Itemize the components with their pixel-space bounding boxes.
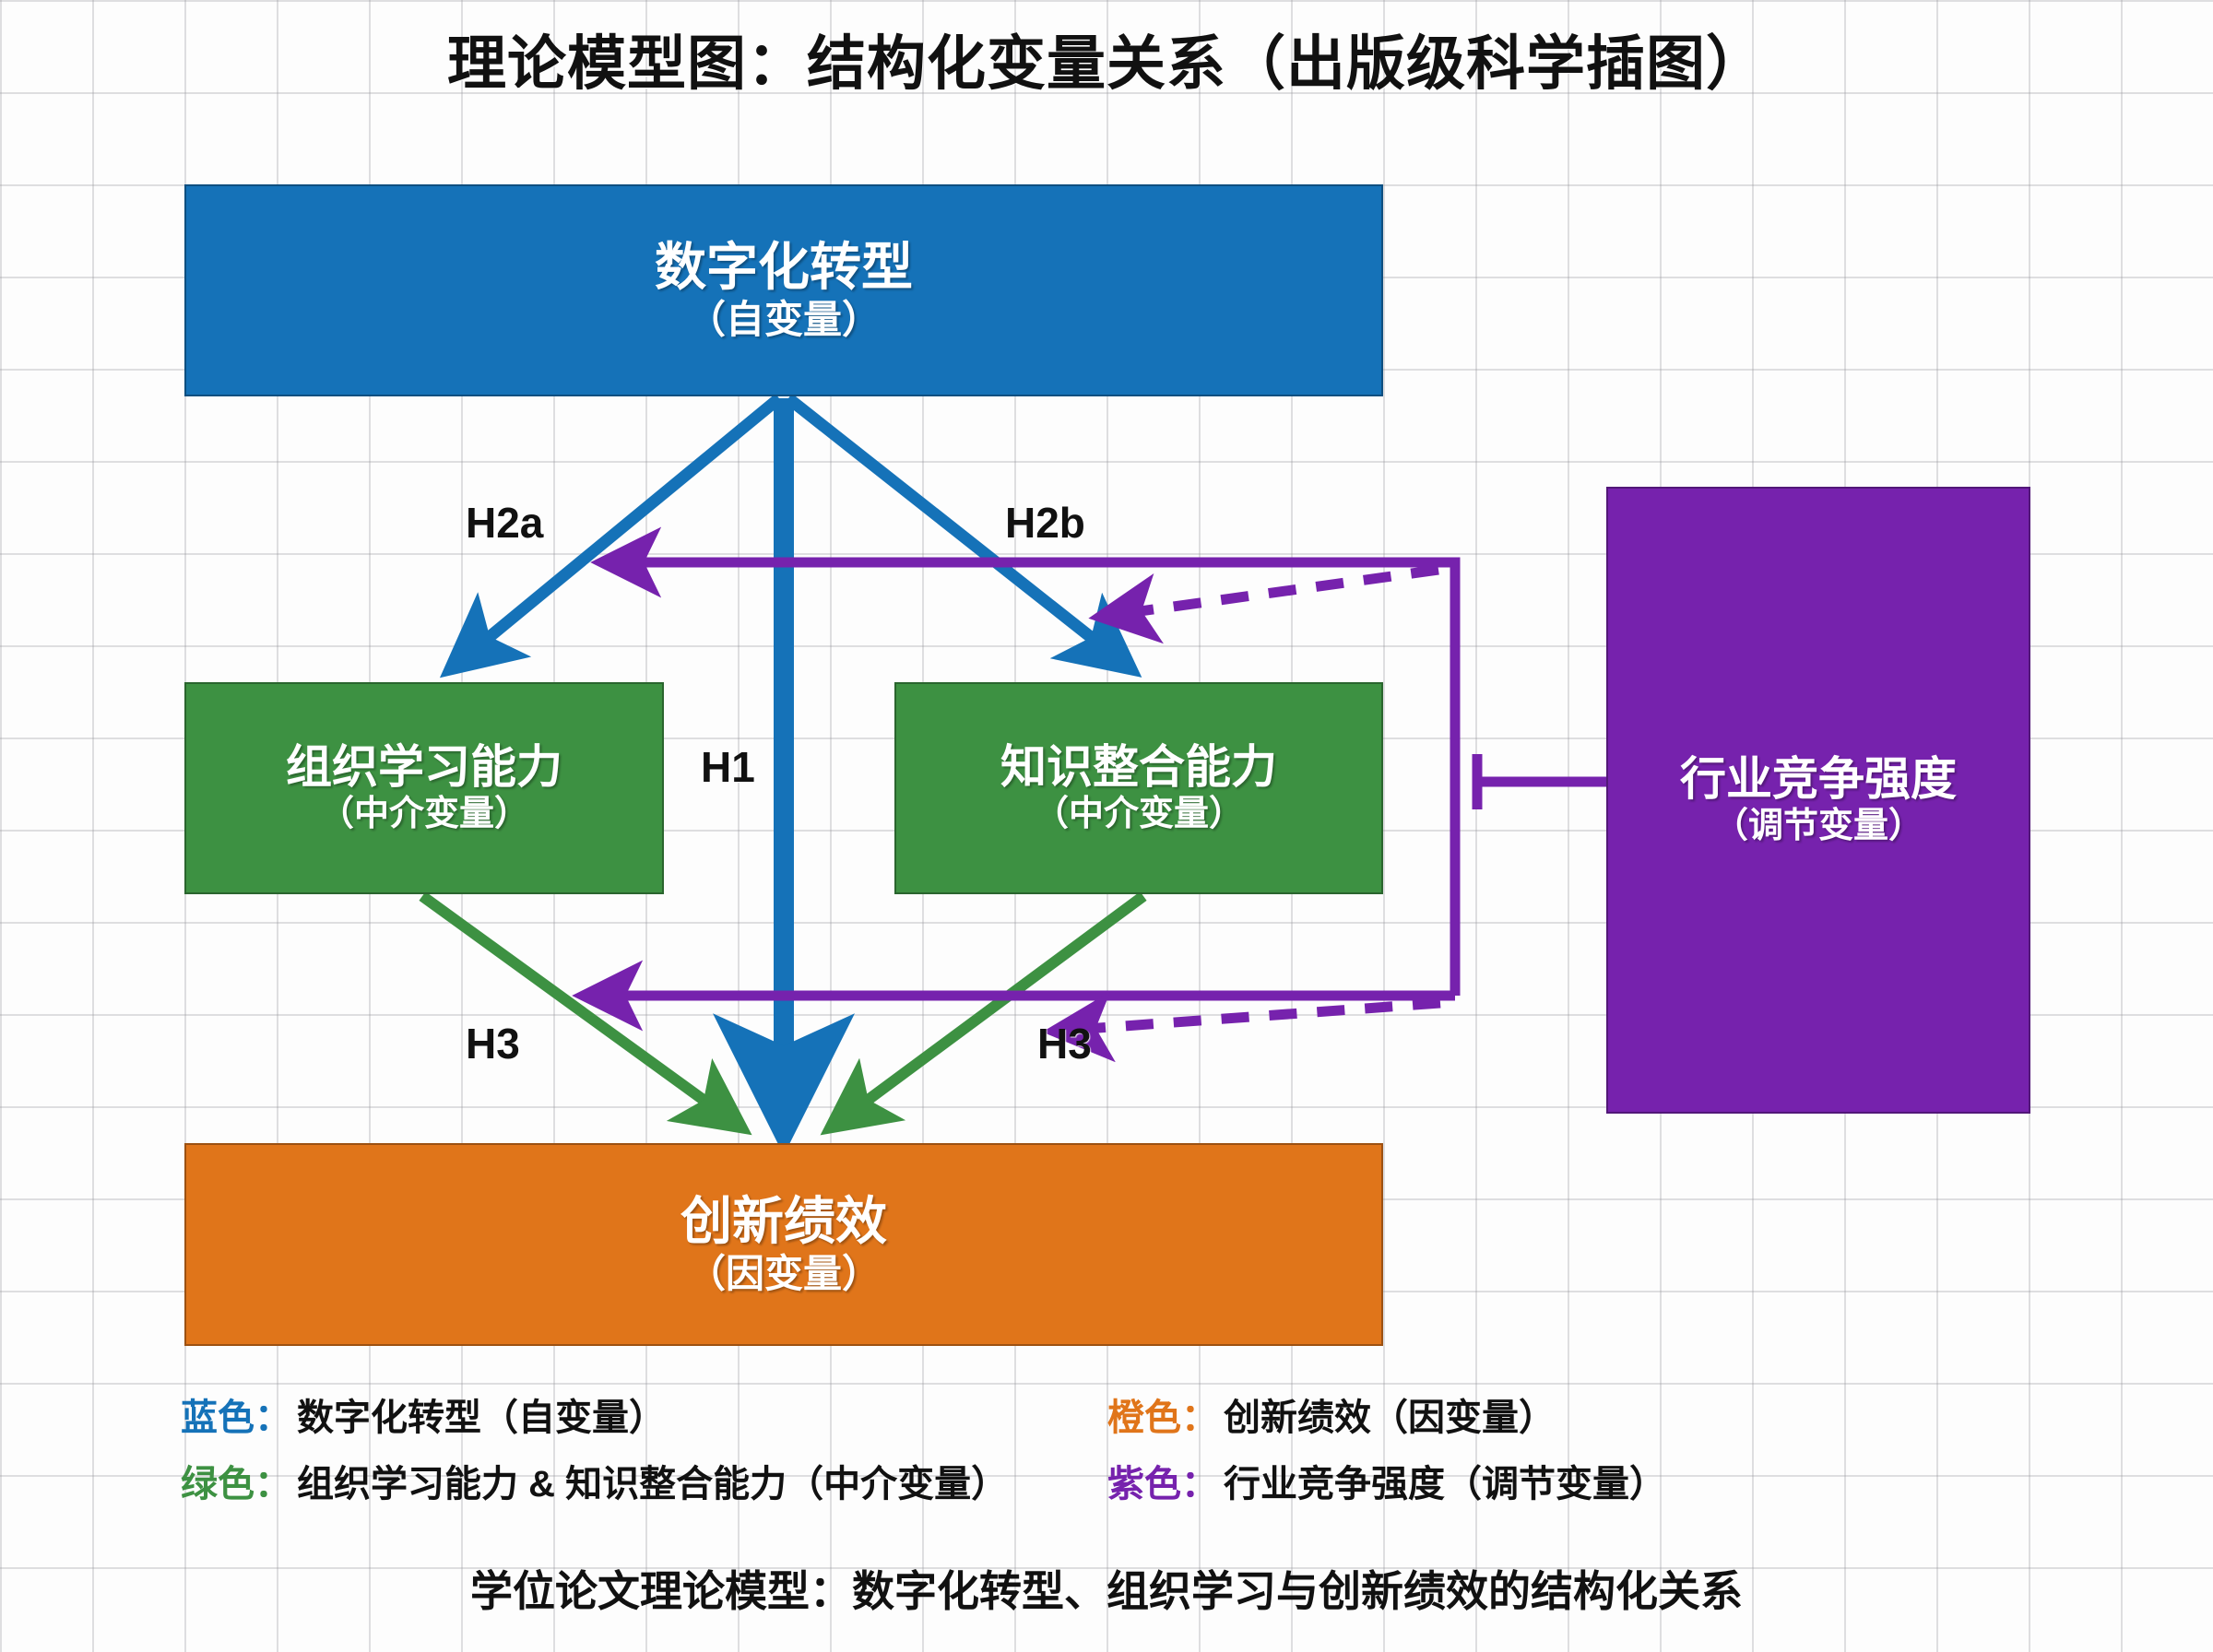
node-knowledge-integration[interactable]: 知识整合能力 （中介变量） xyxy=(894,682,1383,894)
node-title: 组织学习能力 xyxy=(286,743,562,792)
node-title: 数字化转型 xyxy=(655,241,913,295)
node-role: （自变量） xyxy=(687,300,881,340)
legend-item-blue: 蓝色： 数字化转型（自变量） xyxy=(181,1387,1107,1441)
figure-caption: 学位论文理论模型：数字化转型、组织学习与创新绩效的结构化关系 xyxy=(0,1558,2213,1619)
node-role: （因变量） xyxy=(687,1254,881,1294)
node-role: （中介变量） xyxy=(319,796,529,833)
legend: 蓝色： 数字化转型（自变量） 橙色： 创新绩效（因变量） 绿色： 组织学习能力 … xyxy=(181,1387,2034,1507)
node-role: （调节变量） xyxy=(1713,808,1923,845)
edge-label-h2a: H2a xyxy=(466,498,543,548)
legend-value: 数字化转型（自变量） xyxy=(297,1387,666,1441)
node-title: 创新绩效 xyxy=(680,1195,887,1249)
edge-med1-to-dv xyxy=(422,896,738,1125)
node-title: 行业竞争强度 xyxy=(1680,755,1957,804)
edge-mod-tbar xyxy=(1477,754,1606,809)
node-innovation-performance[interactable]: 创新绩效 （因变量） xyxy=(184,1143,1383,1346)
edge-label-h2b: H2b xyxy=(1005,498,1085,548)
edge-label-h3-right: H3 xyxy=(1037,1019,1092,1068)
legend-value: 创新绩效（因变量） xyxy=(1224,1387,1556,1441)
legend-key: 绿色： xyxy=(181,1454,291,1507)
page-title: 理论模型图：结构化变量关系（出版级科学插图） xyxy=(0,17,2213,101)
legend-key: 蓝色： xyxy=(181,1387,291,1441)
node-role: （中介变量） xyxy=(1034,796,1244,833)
legend-item-orange: 橙色： 创新绩效（因变量） xyxy=(1107,1387,2034,1441)
node-digital-transformation[interactable]: 数字化转型 （自变量） xyxy=(184,184,1383,396)
legend-value: 组织学习能力 & 知识整合能力（中介变量） xyxy=(297,1454,1008,1507)
edge-med2-to-dv xyxy=(834,896,1143,1125)
edge-mod-to-iv-med2 xyxy=(1106,570,1438,616)
edge-mod-to-med2-dv xyxy=(1060,1003,1440,1031)
legend-item-green: 绿色： 组织学习能力 & 知识整合能力（中介变量） xyxy=(181,1454,1107,1507)
legend-key: 橙色： xyxy=(1107,1387,1218,1441)
edge-label-h1: H1 xyxy=(701,742,755,792)
node-organizational-learning[interactable]: 组织学习能力 （中介变量） xyxy=(184,682,664,894)
node-industry-competition[interactable]: 行业竞争强度 （调节变量） xyxy=(1606,487,2030,1114)
legend-key: 紫色： xyxy=(1107,1454,1218,1507)
edge-label-h3-left: H3 xyxy=(466,1019,520,1068)
legend-value: 行业竞争强度（调节变量） xyxy=(1224,1454,1666,1507)
node-title: 知识整合能力 xyxy=(1000,743,1277,792)
legend-item-purple: 紫色： 行业竞争强度（调节变量） xyxy=(1107,1454,2034,1507)
